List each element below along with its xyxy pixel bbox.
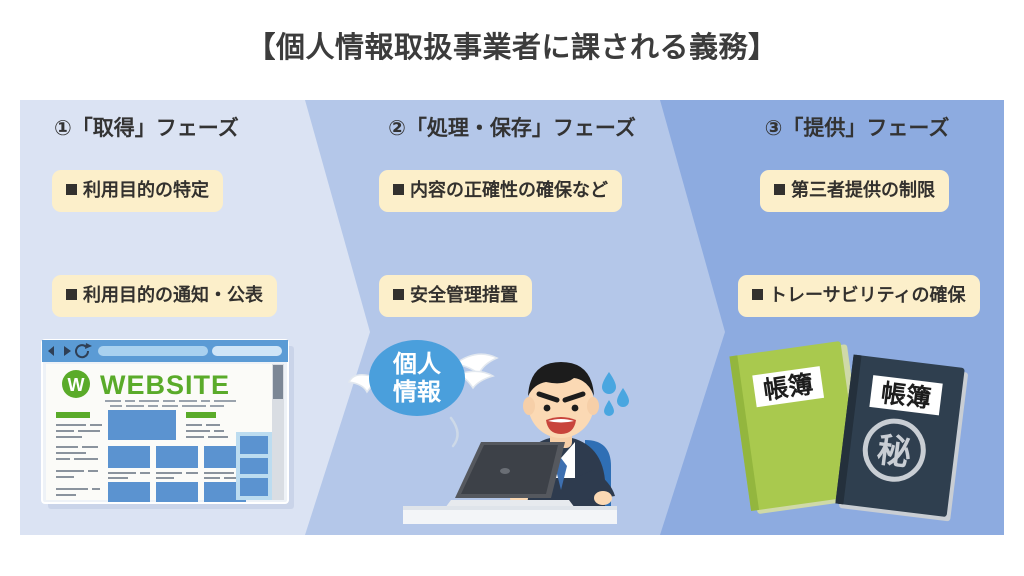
website-browser-illustration: W WEBSITE xyxy=(40,338,300,513)
search-bar xyxy=(212,346,282,356)
phase-1-item-1-label: 利用目的の特定 xyxy=(83,180,209,200)
phase-3-item-2-label: トレーサビリティの確保 xyxy=(769,285,966,305)
bubble-trail xyxy=(451,418,458,446)
phase-column-3: ③「提供」フェーズ 第三者提供の制限 トレーサビリティの確保 帳簿 xyxy=(710,100,1004,535)
site-logo-letter: W xyxy=(68,375,85,395)
square-bullet-icon xyxy=(393,184,404,195)
navy-ledger-book: 帳簿 秘 xyxy=(835,355,969,522)
square-bullet-icon xyxy=(774,184,785,195)
phase-2-item-1: 内容の正確性の確保など xyxy=(379,170,622,212)
bubble-text-line2: 情報 xyxy=(393,379,442,406)
eye-left xyxy=(544,405,551,412)
ear-right xyxy=(587,397,599,415)
phase-2-item-2-label: 安全管理措置 xyxy=(410,285,518,305)
square-bullet-icon xyxy=(752,289,763,300)
scrollbar-thumb[interactable] xyxy=(273,365,283,399)
laptop-display xyxy=(461,445,558,494)
content-card-grid xyxy=(108,446,246,502)
phase-1-item-2: 利用目的の通知・公表 xyxy=(52,275,277,317)
phase-column-1: ①「取得」フェーズ 利用目的の特定 利用目的の通知・公表 xyxy=(20,100,320,535)
page-title: 【個人情報取扱事業者に課される義務】 xyxy=(0,24,1024,66)
phase-2-item-2: 安全管理措置 xyxy=(379,275,532,317)
website-heading: WEBSITE xyxy=(100,370,230,400)
sweat-drops-icon xyxy=(602,372,629,416)
desk-edge xyxy=(403,506,617,510)
secret-seal-label: 秘 xyxy=(875,431,913,473)
square-bullet-icon xyxy=(393,289,404,300)
address-bar xyxy=(98,346,208,356)
phase-3-item-2: トレーサビリティの確保 xyxy=(738,275,980,317)
navy-book-title: 帳簿 xyxy=(879,378,932,413)
hand-right xyxy=(594,491,612,505)
phase-band: ①「取得」フェーズ 利用目的の特定 利用目的の通知・公表 xyxy=(20,100,1004,535)
ledger-books-illustration: 帳簿 帳簿 秘 xyxy=(720,332,1000,527)
leaking-personal-info-illustration: 個人 情報 xyxy=(347,330,677,530)
square-bullet-icon xyxy=(66,289,77,300)
phase-3-header: ③「提供」フェーズ xyxy=(710,112,1004,142)
phase-1-header: ①「取得」フェーズ xyxy=(20,112,354,142)
ear-left xyxy=(523,397,535,415)
right-sidebar-panel xyxy=(236,432,272,500)
phase-column-2: ②「処理・保存」フェーズ 内容の正確性の確保など 安全管理措置 個人 情報 xyxy=(347,100,677,535)
phase-3-item-1: 第三者提供の制限 xyxy=(760,170,949,212)
phase-2-header: ②「処理・保存」フェーズ xyxy=(347,112,677,142)
eye-right xyxy=(572,405,579,412)
phase-1-item-2-label: 利用目的の通知・公表 xyxy=(83,285,263,305)
bubble-text-line1: 個人 xyxy=(392,351,441,378)
phase-3-item-1-label: 第三者提供の制限 xyxy=(791,180,935,200)
phase-1-item-1: 利用目的の特定 xyxy=(52,170,223,212)
laptop-logo xyxy=(500,468,510,474)
square-bullet-icon xyxy=(66,184,77,195)
phase-2-item-1-label: 内容の正確性の確保など xyxy=(410,180,608,200)
